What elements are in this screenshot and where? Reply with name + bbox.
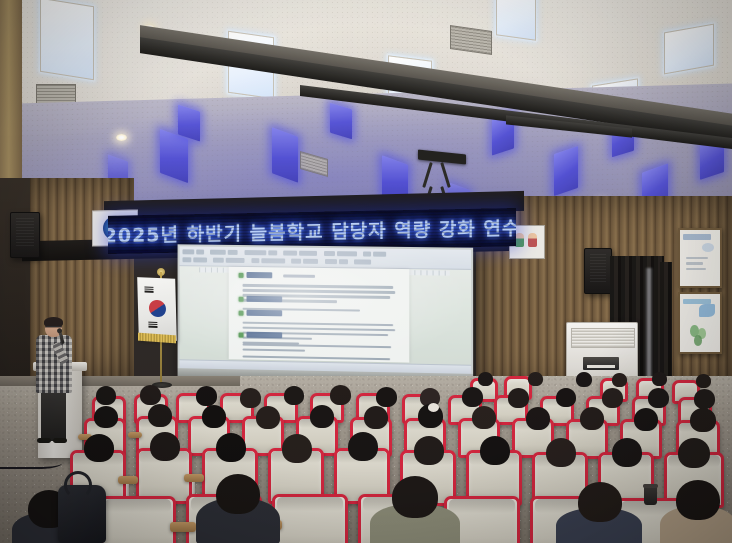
attendee-head [140,385,161,405]
attendee-head [202,405,226,428]
ceiling-blue-panel [330,103,352,140]
attendee-head [392,476,438,518]
attendee-head [96,386,116,405]
section-heading [247,272,272,278]
attendee-head [348,432,378,461]
attendee-head [690,408,716,432]
flag-fringe [138,333,176,344]
attendee-head [150,432,180,461]
poster-graphic [702,243,714,252]
ac-control-panel [583,357,619,370]
ceiling-led-panel [496,0,536,41]
cartoon-figure [515,233,524,247]
attendee-head [652,372,667,386]
body-line [242,326,395,331]
hair-clip [428,403,439,412]
attendee-head [678,438,710,468]
attendee-head [472,406,496,429]
ac-grill [571,328,635,348]
poster-graphic [694,335,703,347]
toolbar-row [182,257,373,264]
body-line [242,321,393,326]
attendee-head [330,385,351,405]
attendee-head [696,374,711,388]
document-page [228,266,409,362]
attendee-head [256,406,280,429]
section-bullet-icon [239,296,244,301]
attendee-head [526,407,550,430]
attendee-head [196,386,217,406]
section-bullet-icon [239,310,244,315]
attendee-head [634,408,658,431]
attendee-head [216,433,246,462]
section-bullet-icon [239,273,244,278]
attendee-head [612,438,642,467]
attendee-head [240,388,261,408]
wall-poster-top [678,228,722,288]
poster-title-block [683,299,711,304]
ceiling-blue-panel [272,127,298,182]
seat-armrest [128,432,142,438]
body-line [242,356,390,361]
attendee-head [546,438,576,467]
seat-armrest [170,522,196,532]
attendee-head [676,480,720,520]
wall-speaker-right [584,248,612,294]
attendee-head [364,406,388,429]
attendee-head [556,388,576,407]
wall-speaker-left [10,212,40,258]
attendee-head [216,474,260,514]
seat-armrest [118,476,138,484]
poster-text-line [686,262,704,264]
seat-armrest [184,474,204,482]
wall-poster-bottom [678,292,722,354]
poster-text-line [686,268,706,270]
auditorium-seat [272,494,348,543]
attendee-head [94,406,118,428]
auditorium-seat [100,496,176,543]
stage-curtain-edge [660,262,672,388]
body-line [242,284,393,289]
attendee-head [508,388,529,408]
poster-graphic [699,304,715,317]
backpack [58,485,106,543]
attendee-head [528,372,543,386]
attendee-head [694,389,715,409]
auditorium-photo: 2025년 하반기 늘봄학교 담당자 역량 강화 연수 [0,0,732,543]
attendee-head [578,482,622,522]
ceiling-downlight [116,134,127,141]
section-heading [247,309,282,316]
presenter-shoe [53,438,67,443]
attendee-head [376,387,397,407]
attendee-head [480,436,510,465]
document-app-toolbar [180,246,472,270]
section-heading [247,332,282,339]
ceiling-led-panel [40,0,94,80]
trigram-geon [144,286,153,292]
attendee-head [580,407,604,430]
ceiling-blue-panel [554,146,578,196]
presenter [36,318,72,444]
attendee-head [148,404,172,427]
attendee-head [576,372,592,387]
attendee-head [282,434,312,463]
attendee-head [648,388,669,408]
attendee-head [310,405,334,428]
presenter-shoe [37,438,51,443]
section-heading [247,295,282,301]
cartoon-figure [528,233,537,247]
coffee-cup [644,486,657,505]
poster-text-line [686,257,708,259]
attendee-head [284,386,304,405]
wall-dark-upper [0,178,30,378]
body-line [242,289,395,294]
trigram-gon [148,322,157,328]
korean-flag-taegukgi [137,277,177,341]
attendee-head [478,372,493,386]
attendee-head [602,388,623,408]
toolbar-row [182,249,388,256]
section-bullet-icon [239,333,244,338]
projection-screen-frame [178,244,474,383]
banner-text: 2025년 하반기 늘봄학교 담당자 역량 강화 연수 [108,213,516,248]
attendee-head [462,387,483,407]
presenter-legs [41,391,66,441]
body-line [242,349,305,353]
attendee-head [414,436,444,465]
projection-screen [180,246,472,374]
attendee-head [612,373,627,387]
body-line [242,344,391,349]
ceiling-led-panel [664,24,714,75]
curtain-light-gap [645,268,653,378]
attendee-head [84,434,114,462]
taeguk-circle [149,300,166,318]
document-section [239,273,398,275]
poster-title-block [683,234,711,239]
section-subheading [283,275,315,278]
